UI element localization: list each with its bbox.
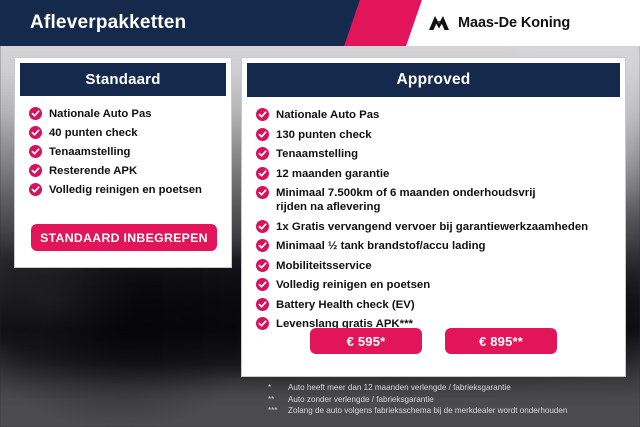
check-circle-icon: [29, 126, 42, 139]
list-item: 130 punten check: [256, 128, 615, 142]
feature-label: Nationale Auto Pas: [276, 108, 379, 122]
standaard-inbegrepen-button[interactable]: STANDAARD INBEGREPEN: [31, 224, 217, 251]
feature-list-approved: Nationale Auto Pas 130 punten check Tena…: [242, 97, 625, 331]
check-circle-icon: [29, 145, 42, 158]
check-circle-icon: [256, 128, 269, 141]
maas-de-koning-m-logo-icon: [428, 13, 450, 33]
card-heading-standaard: Standaard: [20, 63, 226, 96]
footnote-3: *** Zolang de auto volgens fabrieksschem…: [268, 405, 567, 417]
list-item: Nationale Auto Pas: [256, 108, 615, 122]
package-card-approved: Approved Nationale Auto Pas 130 punten c…: [241, 57, 626, 377]
check-circle-icon: [256, 108, 269, 121]
feature-label: Volledig reinigen en poetsen: [276, 278, 430, 292]
check-circle-icon: [29, 164, 42, 177]
footnote-1: * Auto heeft meer dan 12 maanden verleng…: [268, 382, 567, 394]
feature-label: 12 maanden garantie: [276, 167, 389, 181]
footnote-text: Auto zonder verlengde / fabrieksgarantie: [288, 394, 434, 406]
card-heading-approved: Approved: [247, 63, 620, 97]
footnote-marker: *: [268, 382, 288, 394]
list-item: Volledig reinigen en poetsen: [29, 183, 221, 197]
footnote-2: ** Auto zonder verlengde / fabrieksgaran…: [268, 394, 567, 406]
feature-label: Battery Health check (EV): [276, 298, 415, 312]
footnote-text: Auto heeft meer dan 12 maanden verlengde…: [288, 382, 511, 394]
footnote-marker: ***: [268, 405, 288, 417]
feature-label: Volledig reinigen en poetsen: [49, 183, 202, 197]
check-circle-icon: [256, 239, 269, 252]
check-circle-icon: [256, 298, 269, 311]
page-title: Afleverpakketten: [30, 0, 186, 46]
check-circle-icon: [256, 167, 269, 180]
feature-label-line2: rijden na aflevering: [276, 200, 536, 214]
footnote-marker: **: [268, 394, 288, 406]
feature-label: 130 punten check: [276, 128, 372, 142]
page-header: Afleverpakketten Maas-De Koning: [0, 0, 640, 46]
check-circle-icon: [29, 107, 42, 120]
list-item: 1x Gratis vervangend vervoer bij garanti…: [256, 220, 615, 234]
brand-name: Maas-De Koning: [458, 15, 570, 31]
check-circle-icon: [256, 259, 269, 272]
list-item: Volledig reinigen en poetsen: [256, 278, 615, 292]
check-circle-icon: [256, 278, 269, 291]
price-button-895[interactable]: € 895**: [445, 328, 557, 354]
check-circle-icon: [29, 183, 42, 196]
brand-logo: Maas-De Koning: [428, 0, 570, 46]
feature-label: Tenaamstelling: [276, 147, 358, 161]
feature-label: 40 punten check: [49, 126, 138, 140]
check-circle-icon: [256, 147, 269, 160]
feature-label: Mobiliteitsservice: [276, 259, 372, 273]
feature-label: Nationale Auto Pas: [49, 107, 152, 121]
price-button-row: € 595* € 895**: [242, 328, 625, 354]
footnote-text: Zolang de auto volgens fabrieksschema bi…: [288, 405, 567, 417]
feature-label-line1: Minimaal 7.500km of 6 maanden onderhouds…: [276, 186, 536, 200]
price-button-595[interactable]: € 595*: [310, 328, 422, 354]
afleverpakketten-screen: Afleverpakketten Maas-De Koning Standaar…: [0, 0, 640, 427]
package-card-standaard: Standaard Nationale Auto Pas 40 punten c…: [14, 57, 232, 268]
feature-list-standaard: Nationale Auto Pas 40 punten check Tenaa…: [15, 96, 231, 197]
list-item: 12 maanden garantie: [256, 167, 615, 181]
list-item: Nationale Auto Pas: [29, 107, 221, 121]
feature-label: Tenaamstelling: [49, 145, 130, 159]
footnotes: * Auto heeft meer dan 12 maanden verleng…: [268, 382, 567, 417]
list-item: Minimaal 7.500km of 6 maanden onderhouds…: [256, 186, 615, 214]
list-item: 40 punten check: [29, 126, 221, 140]
list-item: Mobiliteitsservice: [256, 259, 615, 273]
list-item: Resterende APK: [29, 164, 221, 178]
list-item: Battery Health check (EV): [256, 298, 615, 312]
list-item: Minimaal ½ tank brandstof/accu lading: [256, 239, 615, 253]
feature-label-multiline: Minimaal 7.500km of 6 maanden onderhouds…: [276, 186, 536, 214]
list-item: Tenaamstelling: [29, 145, 221, 159]
check-circle-icon: [256, 220, 269, 233]
feature-label: Resterende APK: [49, 164, 137, 178]
check-circle-icon: [256, 186, 269, 199]
feature-label: Minimaal ½ tank brandstof/accu lading: [276, 239, 486, 253]
list-item: Tenaamstelling: [256, 147, 615, 161]
feature-label: 1x Gratis vervangend vervoer bij garanti…: [276, 220, 588, 234]
